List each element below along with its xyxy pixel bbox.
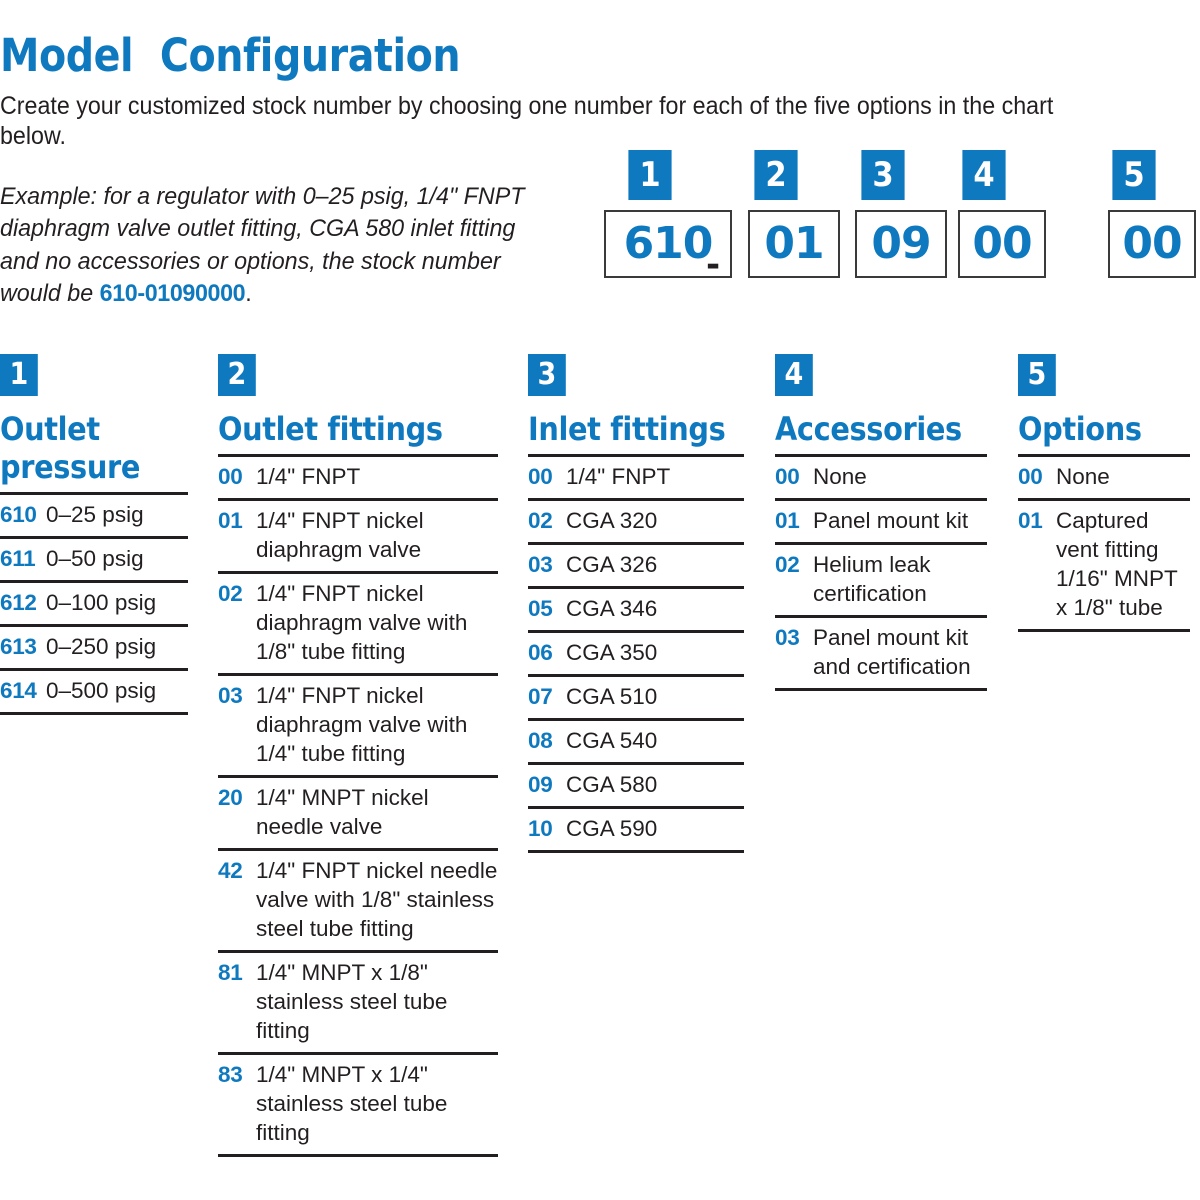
option-description: 1/4" FNPT nickel diaphragm valve with 1/… bbox=[256, 579, 498, 666]
stock-segment-badge: 2 bbox=[754, 150, 797, 200]
option-code: 10 bbox=[528, 814, 566, 843]
option-description: Captured vent fitting 1/16" MNPT x 1/8" … bbox=[1056, 506, 1190, 622]
option-code: 00 bbox=[528, 462, 566, 491]
option-code: 612 bbox=[0, 588, 46, 617]
stock-number-separator: - bbox=[706, 248, 720, 282]
option-code: 81 bbox=[218, 958, 256, 987]
option-code: 01 bbox=[218, 506, 256, 535]
option-description: Panel mount kit and certification bbox=[813, 623, 987, 681]
option-column-badge: 3 bbox=[528, 354, 566, 396]
option-row[interactable]: 06CGA 350 bbox=[528, 633, 744, 677]
option-code: 03 bbox=[218, 681, 256, 710]
option-row[interactable]: 001/4" FNPT bbox=[528, 457, 744, 501]
option-code: 613 bbox=[0, 632, 46, 661]
option-code: 610 bbox=[0, 500, 46, 529]
option-description: CGA 580 bbox=[566, 770, 744, 799]
option-code: 03 bbox=[775, 623, 813, 652]
option-row[interactable]: 03Panel mount kit and certification bbox=[775, 618, 987, 691]
option-column-title: Options bbox=[1018, 410, 1198, 448]
option-description: 1/4" FNPT nickel needle valve with 1/8" … bbox=[256, 856, 498, 943]
option-row[interactable]: 09CGA 580 bbox=[528, 765, 744, 809]
option-description: CGA 510 bbox=[566, 682, 744, 711]
option-description: Panel mount kit bbox=[813, 506, 987, 535]
option-row[interactable]: 811/4" MNPT x 1/8" stainless steel tube … bbox=[218, 953, 498, 1055]
page-title: Model Configuration bbox=[0, 32, 460, 79]
option-description: CGA 320 bbox=[566, 506, 744, 535]
option-row-list: 6100–25 psig6110–50 psig6120–100 psig613… bbox=[0, 492, 188, 715]
stock-segment-value: 00 bbox=[958, 210, 1046, 278]
option-description: CGA 590 bbox=[566, 814, 744, 843]
option-code: 20 bbox=[218, 783, 256, 812]
option-row[interactable]: 03CGA 326 bbox=[528, 545, 744, 589]
option-column-badge: 2 bbox=[218, 354, 256, 396]
option-description: 1/4" FNPT nickel diaphragm valve with 1/… bbox=[256, 681, 498, 768]
option-row[interactable]: 031/4" FNPT nickel diaphragm valve with … bbox=[218, 676, 498, 778]
option-row[interactable]: 10CGA 590 bbox=[528, 809, 744, 853]
option-row[interactable]: 6110–50 psig bbox=[0, 539, 188, 583]
example-stock-number: 610-01090000 bbox=[100, 280, 246, 307]
option-description: 1/4" FNPT bbox=[566, 462, 744, 491]
option-code: 83 bbox=[218, 1060, 256, 1089]
option-description: CGA 350 bbox=[566, 638, 744, 667]
option-row-list: 001/4" FNPT02CGA 32003CGA 32605CGA 34606… bbox=[528, 454, 744, 853]
option-description: None bbox=[1056, 462, 1190, 491]
option-description: 0–100 psig bbox=[46, 588, 188, 617]
example-text: Example: for a regulator with 0–25 psig,… bbox=[0, 183, 524, 308]
option-column-1: 1Outlet pressure6100–25 psig6110–50 psig… bbox=[0, 354, 188, 715]
option-column-badge: 1 bbox=[0, 354, 38, 396]
option-column-4: 4Accessories00None01Panel mount kit02Hel… bbox=[775, 354, 987, 691]
stock-segment-5: 500 bbox=[1108, 150, 1196, 278]
option-row[interactable]: 02Helium leak certification bbox=[775, 545, 987, 618]
option-code: 09 bbox=[528, 770, 566, 799]
option-column-title: Outlet fittings bbox=[218, 410, 497, 448]
stock-segment-badge: 1 bbox=[628, 150, 671, 200]
option-column-5: 5Options00None01Captured vent fitting 1/… bbox=[1018, 354, 1190, 632]
option-description: 1/4" MNPT x 1/8" stainless steel tube fi… bbox=[256, 958, 498, 1045]
option-code: 42 bbox=[218, 856, 256, 885]
option-row[interactable]: 831/4" MNPT x 1/4" stainless steel tube … bbox=[218, 1055, 498, 1157]
stock-segment-4: 400 bbox=[958, 150, 1046, 278]
option-row[interactable]: 01Captured vent fitting 1/16" MNPT x 1/8… bbox=[1018, 501, 1190, 632]
option-description: CGA 540 bbox=[566, 726, 744, 755]
option-row[interactable]: 6130–250 psig bbox=[0, 627, 188, 671]
option-row[interactable]: 011/4" FNPT nickel diaphragm valve bbox=[218, 501, 498, 574]
option-column-3: 3Inlet fittings001/4" FNPT02CGA 32003CGA… bbox=[528, 354, 744, 853]
option-row[interactable]: 6140–500 psig bbox=[0, 671, 188, 715]
example-period: . bbox=[245, 280, 251, 307]
stock-number-diagram: 1610201309400500 bbox=[600, 150, 1200, 310]
option-description: 1/4" FNPT bbox=[256, 462, 498, 491]
option-code: 02 bbox=[218, 579, 256, 608]
stock-segment-value: 09 bbox=[855, 210, 947, 278]
option-code: 05 bbox=[528, 594, 566, 623]
option-row[interactable]: 01Panel mount kit bbox=[775, 501, 987, 545]
option-description: 0–50 psig bbox=[46, 544, 188, 573]
option-row[interactable]: 001/4" FNPT bbox=[218, 457, 498, 501]
option-column-title: Accessories bbox=[775, 410, 991, 448]
option-code: 01 bbox=[775, 506, 813, 535]
option-code: 02 bbox=[775, 550, 813, 579]
stock-segment-value: 01 bbox=[748, 210, 840, 278]
option-row[interactable]: 201/4" MNPT nickel needle valve bbox=[218, 778, 498, 851]
option-column-title: Inlet fittings bbox=[528, 410, 744, 448]
option-row[interactable]: 07CGA 510 bbox=[528, 677, 744, 721]
option-code: 08 bbox=[528, 726, 566, 755]
intro-paragraph: Create your customized stock number by c… bbox=[0, 91, 1112, 151]
option-row[interactable]: 02CGA 320 bbox=[528, 501, 744, 545]
stock-segment-2: 201 bbox=[748, 150, 840, 278]
option-description: Helium leak certification bbox=[813, 550, 987, 608]
option-column-title: Outlet pressure bbox=[0, 410, 185, 486]
option-description: None bbox=[813, 462, 987, 491]
stock-segment-badge: 4 bbox=[962, 150, 1005, 200]
option-column-2: 2Outlet fittings001/4" FNPT011/4" FNPT n… bbox=[218, 354, 498, 1157]
option-column-badge: 4 bbox=[775, 354, 813, 396]
option-code: 01 bbox=[1018, 506, 1056, 535]
option-code: 06 bbox=[528, 638, 566, 667]
option-code: 00 bbox=[775, 462, 813, 491]
option-row[interactable]: 421/4" FNPT nickel needle valve with 1/8… bbox=[218, 851, 498, 953]
option-code: 07 bbox=[528, 682, 566, 711]
option-code: 00 bbox=[1018, 462, 1056, 491]
option-description: CGA 346 bbox=[566, 594, 744, 623]
option-code: 00 bbox=[218, 462, 256, 491]
option-row[interactable]: 05CGA 346 bbox=[528, 589, 744, 633]
example-paragraph: Example: for a regulator with 0–25 psig,… bbox=[0, 181, 532, 311]
option-description: CGA 326 bbox=[566, 550, 744, 579]
option-description: 0–250 psig bbox=[46, 632, 188, 661]
option-code: 614 bbox=[0, 676, 46, 705]
option-row[interactable]: 00None bbox=[1018, 457, 1190, 501]
option-description: 0–500 psig bbox=[46, 676, 188, 705]
option-row[interactable]: 021/4" FNPT nickel diaphragm valve with … bbox=[218, 574, 498, 676]
option-row[interactable]: 6100–25 psig bbox=[0, 495, 188, 539]
stock-segment-3: 309 bbox=[855, 150, 947, 278]
option-code: 611 bbox=[0, 544, 46, 573]
option-description: 1/4" FNPT nickel diaphragm valve bbox=[256, 506, 498, 564]
option-row-list: 00None01Panel mount kit02Helium leak cer… bbox=[775, 454, 987, 691]
stock-segment-badge: 5 bbox=[1112, 150, 1155, 200]
option-description: 1/4" MNPT x 1/4" stainless steel tube fi… bbox=[256, 1060, 498, 1147]
option-column-badge: 5 bbox=[1018, 354, 1056, 396]
stock-segment-value: 00 bbox=[1108, 210, 1196, 278]
model-configuration-page: Model Configuration Create your customiz… bbox=[0, 0, 1200, 1200]
option-code: 02 bbox=[528, 506, 566, 535]
stock-segment-badge: 3 bbox=[861, 150, 904, 200]
option-row[interactable]: 08CGA 540 bbox=[528, 721, 744, 765]
option-code: 03 bbox=[528, 550, 566, 579]
option-row-list: 001/4" FNPT011/4" FNPT nickel diaphragm … bbox=[218, 454, 498, 1157]
option-row[interactable]: 00None bbox=[775, 457, 987, 501]
option-row-list: 00None01Captured vent fitting 1/16" MNPT… bbox=[1018, 454, 1190, 632]
option-row[interactable]: 6120–100 psig bbox=[0, 583, 188, 627]
option-description: 0–25 psig bbox=[46, 500, 188, 529]
option-description: 1/4" MNPT nickel needle valve bbox=[256, 783, 498, 841]
